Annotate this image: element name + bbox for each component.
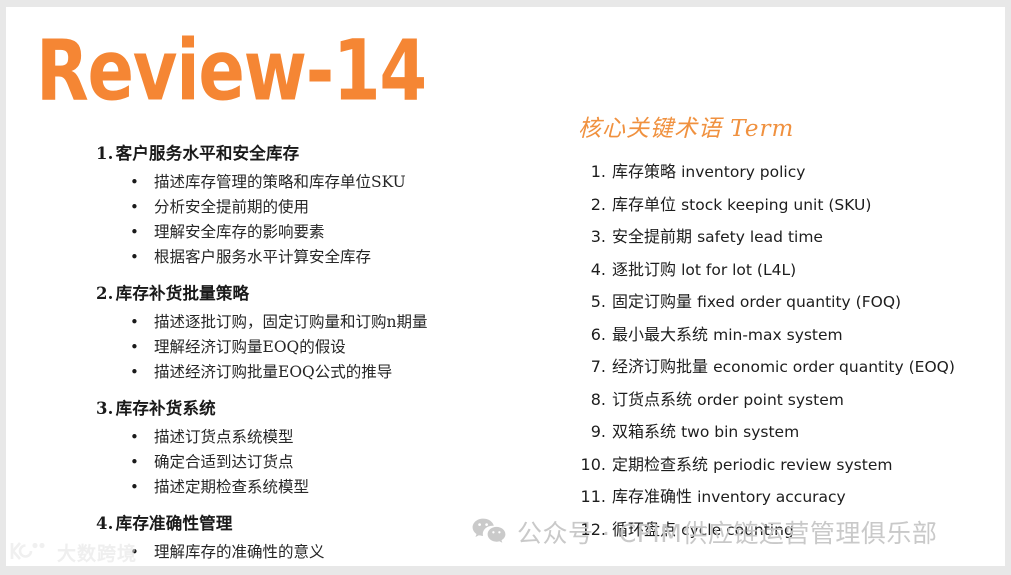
list-item: 3.安全提前期 safety lead time [578,221,998,254]
bullet-dot-icon: • [130,335,139,360]
list-item: 7.经济订购批量 economic order quantity (EOQ) [578,351,998,384]
objective-section-number: 4. [96,514,114,533]
term-index: 12. [578,514,606,546]
bullet-dot-icon: • [130,540,139,565]
objectives-column: 1.客户服务水平和安全库存 •描述库存管理的策略和库存单位SKU •分析安全提前… [96,142,536,575]
objective-section-number: 2. [96,284,114,303]
bullet-text: 描述逐批订购，固定订购量和订购n期量 [154,313,427,331]
term-index: 4. [578,254,606,286]
slide-canvas: Review-14 1.客户服务水平和安全库存 •描述库存管理的策略和库存单位S… [0,0,1011,575]
term-en: cycle counting [681,521,794,539]
term-zh: 库存准确性 [612,487,697,506]
list-item: •描述库存管理的策略和库存单位SKU [96,170,536,195]
list-item: •描述订货点系统模型 [96,425,536,450]
bullet-text: 理解经济订购量EOQ的假设 [154,338,346,356]
objective-section-heading: 1.客户服务水平和安全库存 [96,142,536,166]
term-zh: 安全提前期 [612,227,697,246]
list-item: 4.逐批订购 lot for lot (L4L) [578,254,998,287]
page-title: Review-14 [36,26,426,117]
objective-section-heading: 2.库存补货批量策略 [96,282,536,306]
objective-section: 4.库存准确性管理 •理解库存的准确性的意义 •区分定期盘点和循环盘点的差异 [96,512,536,575]
dashu-logo-icon [8,540,52,567]
objective-section-title: 客户服务水平和安全库存 [116,144,300,163]
bullet-text: 描述经济订购批量EOQ公式的推导 [154,363,392,381]
term-zh: 库存策略 [612,162,681,181]
objective-section: 1.客户服务水平和安全库存 •描述库存管理的策略和库存单位SKU •分析安全提前… [96,142,536,270]
frame-edge-top [0,0,1011,7]
term-index: 3. [578,221,606,253]
list-item: 1.库存策略 inventory policy [578,156,998,189]
list-item: •理解库存的准确性的意义 [96,540,536,565]
term-index: 8. [578,384,606,416]
bullet-dot-icon: • [130,195,139,220]
objective-section-title: 库存准确性管理 [116,514,233,533]
term-en: two bin system [681,423,799,441]
bullet-dot-icon: • [130,565,139,575]
objective-section-number: 3. [96,399,114,418]
objective-section: 2.库存补货批量策略 •描述逐批订购，固定订购量和订购n期量 •理解经济订购量E… [96,282,536,385]
bullet-dot-icon: • [130,310,139,335]
bullet-dot-icon: • [130,475,139,500]
objective-section-heading: 4.库存准确性管理 [96,512,536,536]
bullet-text: 理解库存的准确性的意义 [154,543,325,561]
objective-bullet-list: •描述逐批订购，固定订购量和订购n期量 •理解经济订购量EOQ的假设 •描述经济… [96,310,536,385]
list-item: 8.订货点系统 order point system [578,384,998,417]
list-item: 10.定期检查系统 periodic review system [578,449,998,482]
term-zh: 经济订购批量 [612,357,713,376]
bullet-text: 确定合适到达订货点 [154,453,294,471]
list-item: •描述经济订购批量EOQ公式的推导 [96,360,536,385]
terms-title: 核心关键术语 Term [578,112,998,146]
list-item: 2.库存单位 stock keeping unit (SKU) [578,189,998,222]
objective-bullet-list: •理解库存的准确性的意义 •区分定期盘点和循环盘点的差异 [96,540,536,575]
list-item: •分析安全提前期的使用 [96,195,536,220]
terms-column: 核心关键术语 Term 1.库存策略 inventory policy 2.库存… [578,112,998,546]
term-en: economic order quantity (EOQ) [713,358,955,376]
term-en: lot for lot (L4L) [681,261,796,279]
term-zh: 固定订购量 [612,292,697,311]
terms-list: 1.库存策略 inventory policy 2.库存单位 stock kee… [578,156,998,546]
objective-bullet-list: •描述订货点系统模型 •确定合适到达订货点 •描述定期检查系统模型 [96,425,536,500]
objective-bullet-list: •描述库存管理的策略和库存单位SKU •分析安全提前期的使用 •理解安全库存的影… [96,170,536,270]
term-zh: 订货点系统 [612,390,697,409]
bullet-dot-icon: • [130,170,139,195]
list-item: •区分定期盘点和循环盘点的差异 [96,565,536,575]
term-index: 9. [578,416,606,448]
objective-section-title: 库存补货批量策略 [116,284,250,303]
bullet-dot-icon: • [130,425,139,450]
objective-section-number: 1. [96,144,114,163]
term-zh: 逐批订购 [612,260,681,279]
bullet-dot-icon: • [130,360,139,385]
bullet-text: 描述订货点系统模型 [154,428,294,446]
term-zh: 循环盘点 [612,520,681,539]
frame-edge-left [0,0,6,575]
list-item: 11.库存准确性 inventory accuracy [578,481,998,514]
term-index: 7. [578,351,606,383]
list-item: •描述定期检查系统模型 [96,475,536,500]
term-zh: 定期检查系统 [612,455,713,474]
objective-section-heading: 3.库存补货系统 [96,397,536,421]
term-en: periodic review system [713,456,892,474]
term-index: 10. [578,449,606,481]
list-item: 5.固定订购量 fixed order quantity (FOQ) [578,286,998,319]
objective-section-title: 库存补货系统 [116,399,216,418]
term-index: 2. [578,189,606,221]
term-index: 5. [578,286,606,318]
list-item: •根据客户服务水平计算安全库存 [96,245,536,270]
term-en: fixed order quantity (FOQ) [697,293,901,311]
bullet-text: 分析安全提前期的使用 [154,198,309,216]
term-en: inventory policy [681,163,805,181]
bullet-dot-icon: • [130,220,139,245]
list-item: 6.最小最大系统 min-max system [578,319,998,352]
term-zh: 最小最大系统 [612,325,713,344]
bullet-dot-icon: • [130,450,139,475]
bullet-dot-icon: • [130,245,139,270]
term-index: 1. [578,156,606,188]
objective-section: 3.库存补货系统 •描述订货点系统模型 •确定合适到达订货点 •描述定期检查系统… [96,397,536,500]
term-zh: 双箱系统 [612,422,681,441]
list-item: •描述逐批订购，固定订购量和订购n期量 [96,310,536,335]
bullet-text: 描述库存管理的策略和库存单位SKU [154,173,406,191]
list-item: •理解安全库存的影响要素 [96,220,536,245]
term-en: stock keeping unit (SKU) [681,196,871,214]
list-item: 12.循环盘点 cycle counting [578,514,998,547]
term-en: safety lead time [697,228,823,246]
list-item: 9.双箱系统 two bin system [578,416,998,449]
frame-edge-right [1005,0,1011,575]
list-item: •理解经济订购量EOQ的假设 [96,335,536,360]
bullet-text: 理解安全库存的影响要素 [154,223,325,241]
term-zh: 库存单位 [612,195,681,214]
term-en: min-max system [713,326,843,344]
term-en: order point system [697,391,844,409]
term-en: inventory accuracy [697,488,846,506]
bullet-text: 区分定期盘点和循环盘点的差异 [154,568,371,575]
bullet-text: 描述定期检查系统模型 [154,478,309,496]
term-index: 11. [578,481,606,513]
list-item: •确定合适到达订货点 [96,450,536,475]
term-index: 6. [578,319,606,351]
bullet-text: 根据客户服务水平计算安全库存 [154,248,371,266]
